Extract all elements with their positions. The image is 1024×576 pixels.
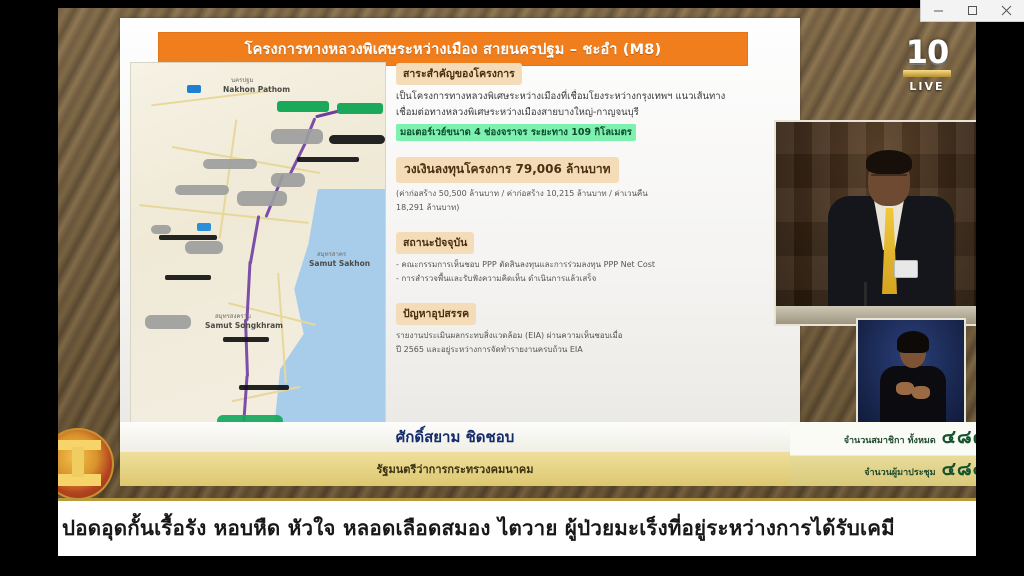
- map-label: [239, 385, 289, 390]
- counter-row: จำนวนผู้มาประชุม ๔๘๔: [790, 454, 988, 486]
- slide-content-column: สาระสำคัญของโครงการ เป็นโครงการทางหลวงพิ…: [396, 62, 788, 373]
- live-badge: LIVE: [909, 80, 944, 93]
- section-line: (ค่าก่อสร้าง 50,500 ล้านบาท / ค่าก่อสร้า…: [396, 187, 788, 201]
- map-label: [175, 185, 229, 195]
- section-line: รายงานประเมินผลกระทบสิ่งแวดล้อม (EIA) ผ่…: [396, 329, 788, 343]
- counter-label: จำนวนสมาชิกา ทั้งหมด: [844, 433, 936, 447]
- map-label: [271, 173, 305, 187]
- section-line: ปี 2565 และอยู่ระหว่างการจัดทำรายงานครบถ…: [396, 343, 788, 357]
- section-highlight: มอเตอร์เวย์ขนาด 4 ช่องจราจร ระยะทาง 109 …: [396, 124, 636, 141]
- map-label: [185, 241, 223, 254]
- speaker-video-panel: [774, 120, 990, 326]
- speaker-glasses: [871, 174, 907, 182]
- map-label: [151, 225, 171, 234]
- attendance-counters: จำนวนสมาชิกา ทั้งหมด ๔๘๗ จำนวนผู้มาประชุ…: [790, 422, 996, 486]
- slide-section: สถานะปัจจุบัน - คณะกรรมการเห็นชอบ PPP ตั…: [396, 231, 788, 286]
- speaker-id-badge: [894, 260, 918, 278]
- map-place-name: Nakhon Pathom: [223, 85, 290, 94]
- screen: โครงการทางหลวงพิเศษระหว่างเมือง สายนครปฐ…: [0, 0, 1024, 576]
- letterbox-ticker-right: [976, 8, 996, 556]
- map-place-name-thai: นครปฐม: [231, 75, 253, 85]
- counter-row: จำนวนสมาชิกา ทั้งหมด ๔๘๗: [790, 422, 988, 454]
- map-label: [237, 191, 287, 206]
- map-label: [165, 275, 211, 280]
- ticker-text: ปอดอุดกั้นเรื้อรัง หอบหืด หัวใจ หลอดเลือ…: [62, 512, 895, 545]
- section-line: เป็นโครงการทางหลวงพิเศษระหว่างเมืองที่เช…: [396, 89, 788, 105]
- logo-bar: [903, 70, 951, 77]
- video-frame: โครงการทางหลวงพิเศษระหว่างเมือง สายนครปฐ…: [28, 8, 996, 556]
- close-icon[interactable]: [992, 1, 1022, 21]
- counter-label: จำนวนผู้มาประชุม: [864, 465, 935, 479]
- map-place-name-thai: สมุทรสงคราม: [215, 311, 251, 321]
- map-badge-icon: [187, 85, 201, 93]
- news-ticker: ปอดอุดกั้นเรื้อรัง หอบหืด หัวใจ หลอดเลือ…: [28, 498, 996, 556]
- lower-third: ศักดิ์สยาม ชิดชอบ รัฐมนตรีว่าการกระทรวงค…: [28, 422, 996, 486]
- presentation-slide: โครงการทางหลวงพิเศษระหว่างเมือง สายนครปฐ…: [120, 18, 800, 450]
- channel-logo: 10 LIVE: [894, 30, 960, 100]
- slide-title: โครงการทางหลวงพิเศษระหว่างเมือง สายนครปฐ…: [158, 32, 748, 66]
- route-map: Nakhon Pathom Samut Sakhon Samut Songkhr…: [130, 62, 386, 440]
- section-line: 18,291 ล้านบาท): [396, 201, 788, 215]
- section-line: - คณะกรรมการเห็นชอบ PPP ตัดสินลงทุนและกา…: [396, 258, 788, 272]
- map-terminus-pin: [277, 101, 329, 112]
- section-heading: ปัญหาอุปสรรค: [396, 303, 476, 325]
- interpreter-hair: [897, 331, 929, 353]
- map-label: [145, 315, 191, 329]
- minimize-icon[interactable]: [923, 1, 953, 21]
- map-label: [203, 159, 257, 169]
- map-label: [271, 129, 323, 144]
- channel-number: 10: [906, 37, 949, 67]
- map-label: [159, 235, 217, 240]
- sign-language-panel: [856, 318, 966, 428]
- section-line: - การสำรวจพื้นและรับฟังความคิดเห็น ดำเนิ…: [396, 272, 788, 286]
- slide-section: สาระสำคัญของโครงการ เป็นโครงการทางหลวงพิ…: [396, 62, 788, 141]
- window-controls: [920, 0, 1024, 22]
- section-heading: สาระสำคัญของโครงการ: [396, 63, 522, 85]
- map-label: [297, 157, 359, 162]
- map-badge-icon: [197, 223, 211, 231]
- interpreter-hand: [912, 386, 930, 399]
- slide-section: ปัญหาอุปสรรค รายงานประเมินผลกระทบสิ่งแวด…: [396, 302, 788, 357]
- maximize-icon[interactable]: [957, 1, 987, 21]
- speaker-hair: [866, 150, 912, 174]
- section-heading: สถานะปัจจุบัน: [396, 232, 474, 254]
- map-place-name: Samut Songkhram: [205, 321, 283, 330]
- map-place-name-thai: สมุทรสาคร: [317, 249, 346, 259]
- section-heading: วงเงินลงทุนโครงการ 79,006 ล้านบาท: [396, 157, 619, 183]
- map-label: [329, 135, 385, 144]
- speaker-role: รัฐมนตรีว่าการกระทรวงคมนาคม: [120, 452, 790, 486]
- letterbox-ticker-left: [28, 8, 58, 556]
- section-line: เชื่อมต่อทางหลวงพิเศษระหว่างเมืองสายบางใ…: [396, 105, 788, 121]
- speaker-name: ศักดิ์สยาม ชิดชอบ: [120, 422, 790, 452]
- map-label: [223, 337, 269, 342]
- map-place-name: Samut Sakhon: [309, 259, 370, 268]
- map-terminus-pin: [337, 103, 383, 114]
- slide-section: วงเงินลงทุนโครงการ 79,006 ล้านบาท (ค่าก่…: [396, 157, 788, 215]
